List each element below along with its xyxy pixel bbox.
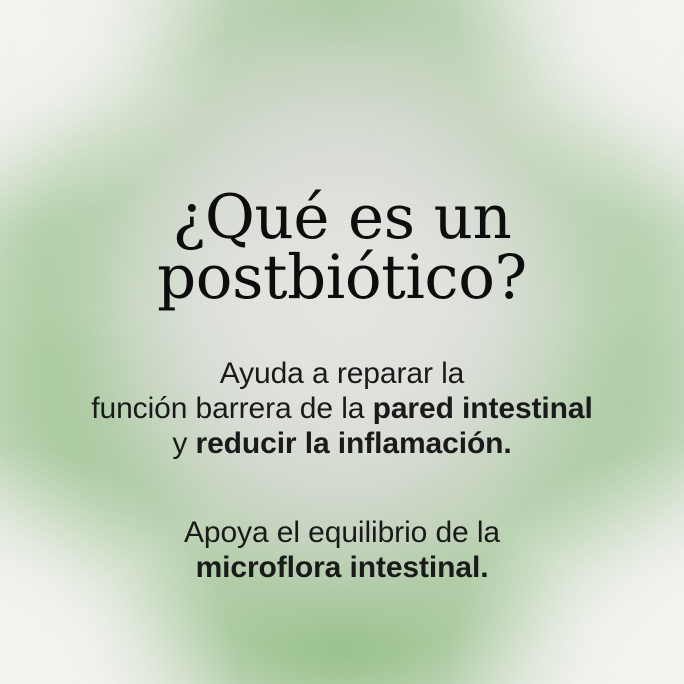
title-line-1: ¿Qué es un xyxy=(0,189,684,247)
paragraph-2-line-1-regular: Apoya el equilibrio de la xyxy=(184,516,500,549)
benefit-paragraph-barrier: Ayuda a reparar la función barrera de la… xyxy=(0,356,684,461)
page-title: ¿Qué es un postbiótico? xyxy=(0,189,684,307)
benefit-paragraph-microflora: Apoya el equilibrio de la microflora int… xyxy=(0,515,684,585)
paragraph-1-line-2: función barrera de la pared intestinal xyxy=(0,391,684,426)
paragraph-1-line-2-regular: función barrera de la xyxy=(91,392,372,425)
paragraph-2-line-1: Apoya el equilibrio de la xyxy=(0,515,684,550)
paragraph-2-line-2: microflora intestinal. xyxy=(0,550,684,585)
paragraph-2-line-2-strong: microflora intestinal. xyxy=(196,551,489,584)
paragraph-1-line-3: y reducir la inflamación. xyxy=(0,426,684,461)
paragraph-1-line-1: Ayuda a reparar la xyxy=(0,356,684,391)
postbiotic-info-card: ¿Qué es un postbiótico? Ayuda a reparar … xyxy=(0,0,684,684)
paragraph-1-line-3-regular: y xyxy=(172,427,195,460)
paragraph-1-line-3-strong: reducir la inflamación. xyxy=(196,427,512,460)
paragraph-1-line-2-strong: pared intestinal xyxy=(373,392,593,425)
title-line-2: postbiótico? xyxy=(0,249,684,307)
body-copy: Ayuda a reparar la función barrera de la… xyxy=(0,326,684,615)
paragraph-1-line-1-regular: Ayuda a reparar la xyxy=(220,357,464,390)
card-content: ¿Qué es un postbiótico? Ayuda a reparar … xyxy=(0,0,684,684)
